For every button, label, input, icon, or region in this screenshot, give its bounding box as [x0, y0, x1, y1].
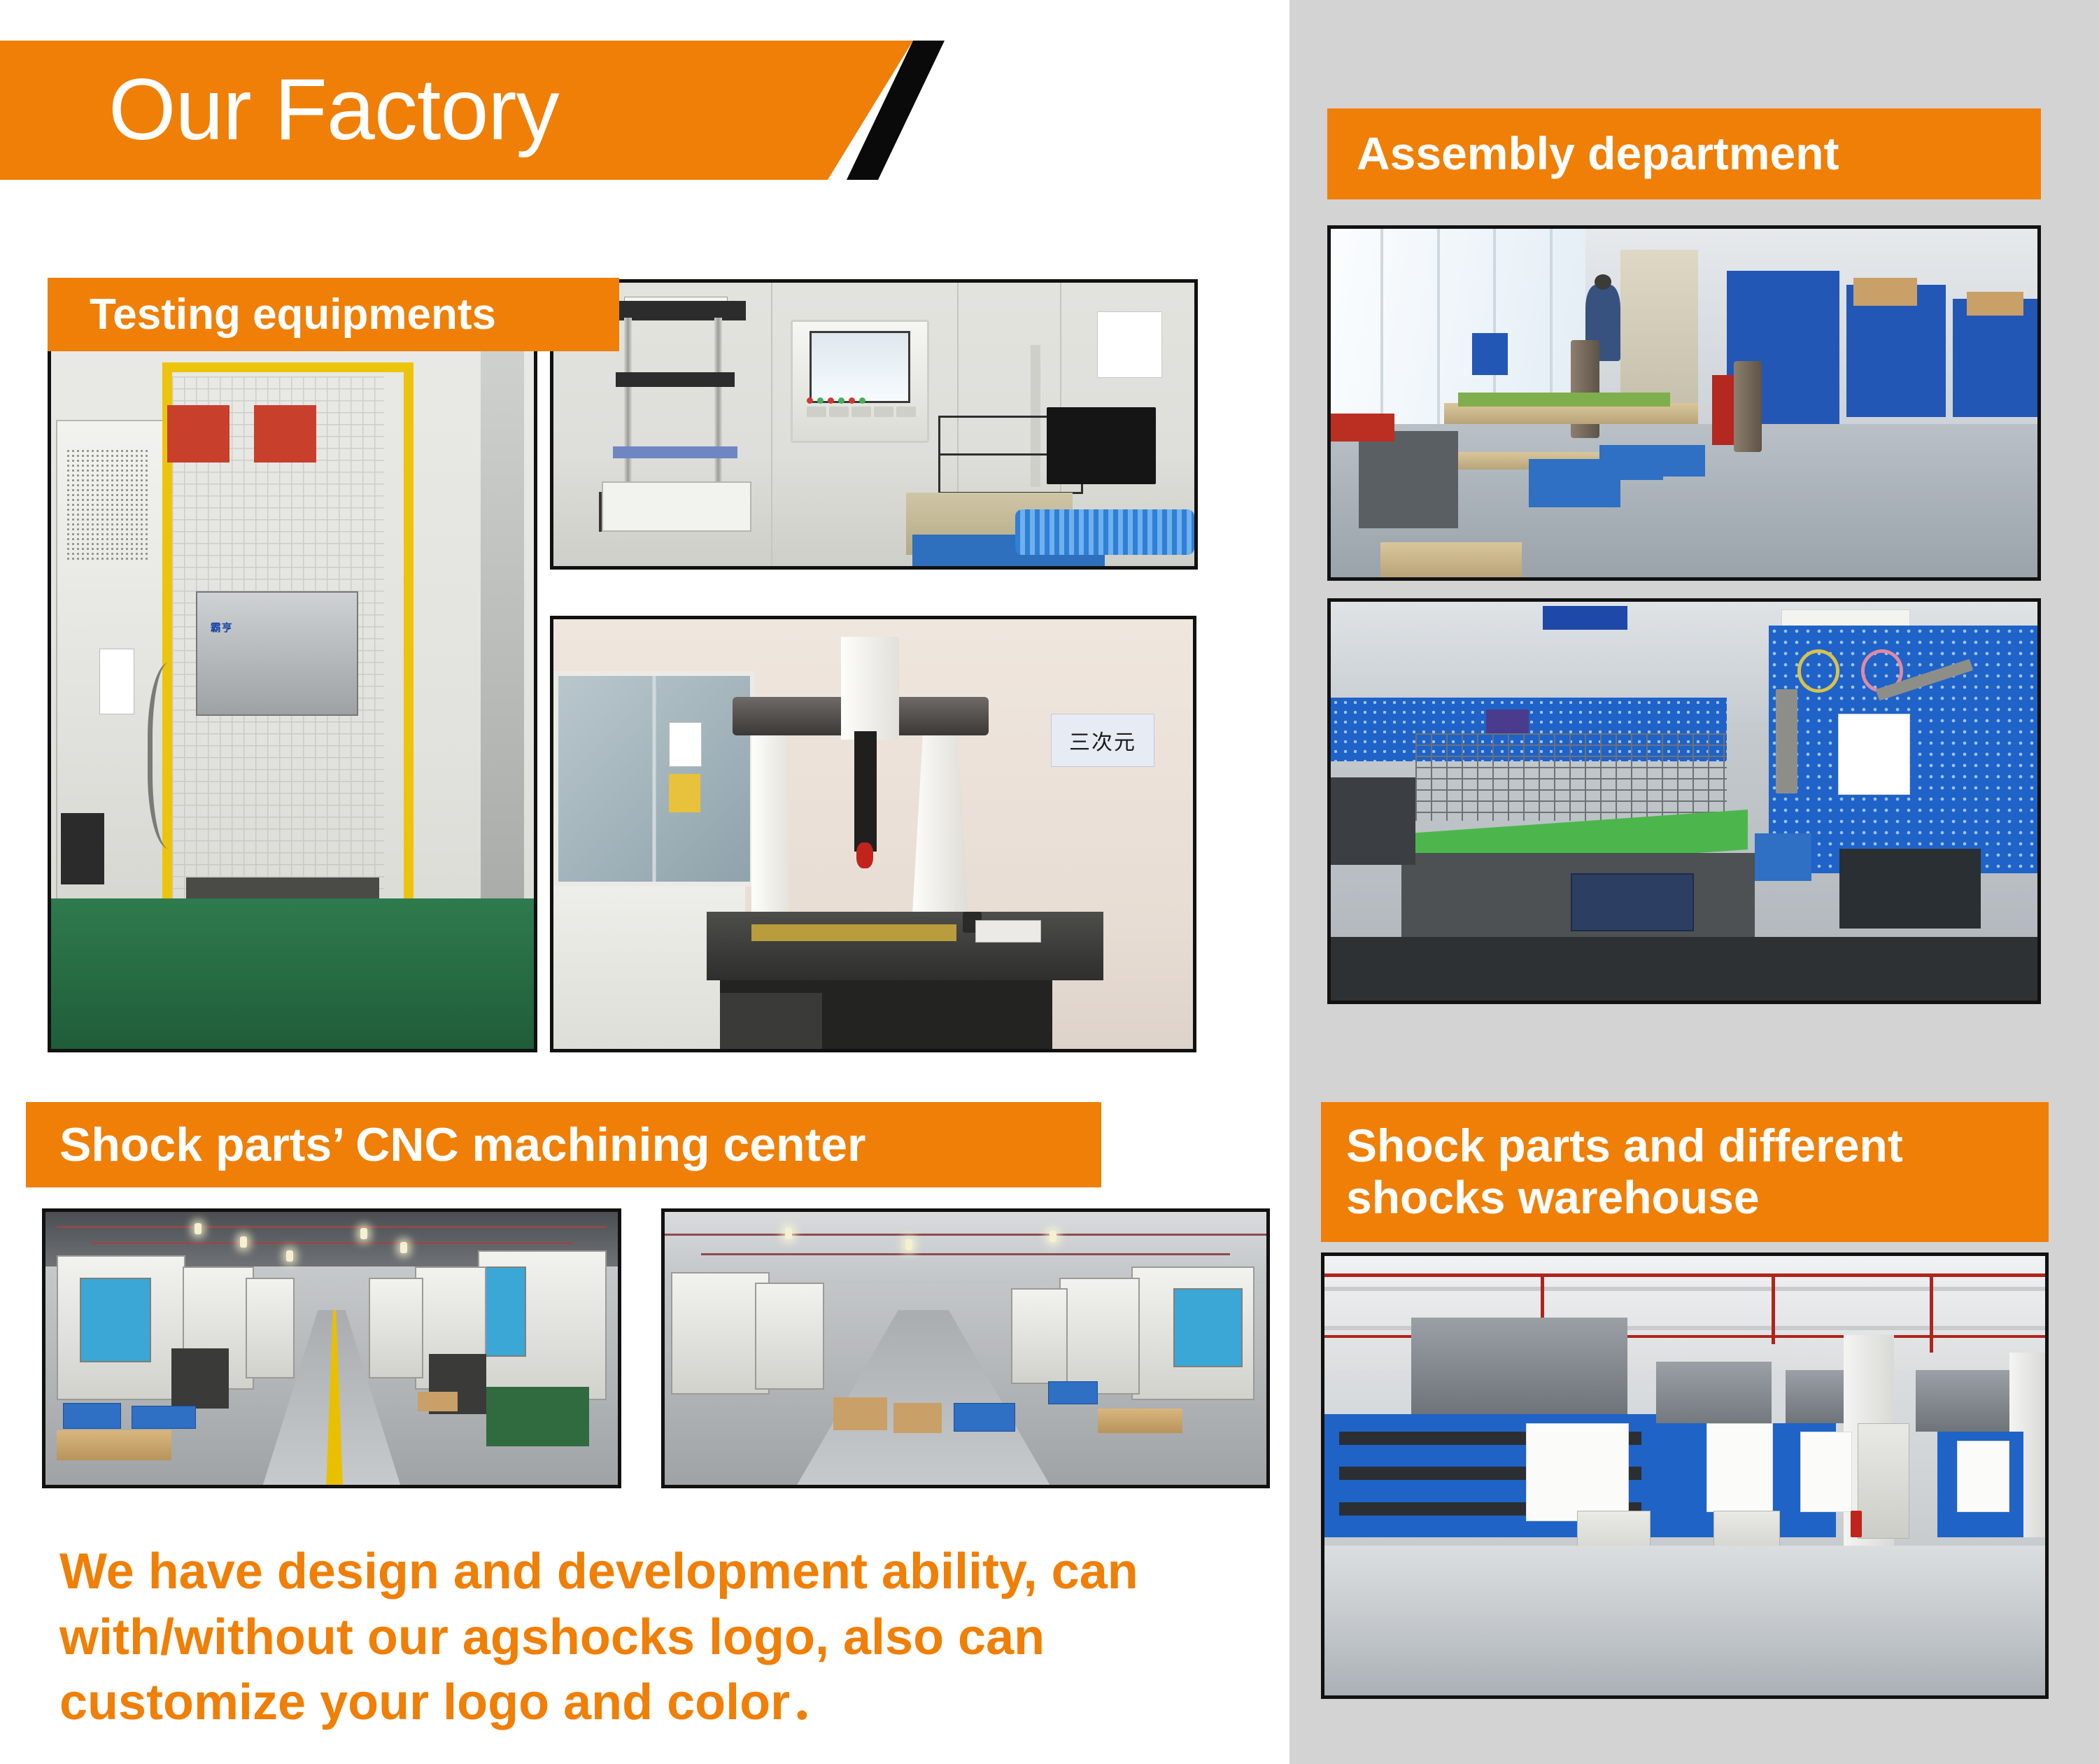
photo-cnc-machining-aisle-1: [42, 1208, 621, 1488]
photo-cnc-machining-aisle-2: [661, 1208, 1270, 1488]
photo-assembly-workbench-pegboard: [1327, 598, 2041, 1004]
caption-warehouse-line2: shocks warehouse: [1346, 1172, 1903, 1224]
caption-assembly-label: Assembly department: [1357, 128, 1839, 180]
caption-cnc-label: Shock parts’ CNC machining center: [59, 1118, 866, 1171]
photo-fatigue-testing-machine: [550, 279, 1198, 570]
factory-blurb-text: We have design and development ability, …: [59, 1539, 1291, 1736]
caption-assembly-department: Assembly department: [1327, 108, 2041, 199]
caption-warehouse-line1: Shock parts and different: [1346, 1120, 1903, 1172]
caption-shocks-warehouse: Shock parts and different shocks warehou…: [1321, 1102, 2049, 1242]
caption-cnc-machining-center: Shock parts’ CNC machining center: [26, 1102, 1101, 1187]
page-title: Our Factory: [108, 50, 559, 169]
photo-assembly-department-floor: [1327, 225, 2041, 581]
caption-testing-equipments: Testing equipments: [48, 278, 619, 351]
photo-coordinate-measuring-machine: 三次元: [550, 616, 1196, 1052]
photo-shocks-warehouse-racks: [1321, 1253, 2049, 1699]
photo-durability-press-tester: 霸亨: [48, 330, 537, 1052]
hopper-logo-text: 霸亨: [211, 620, 233, 635]
cmm-sign-text: 三次元: [1051, 714, 1154, 767]
caption-testing-label: Testing equipments: [90, 290, 496, 339]
